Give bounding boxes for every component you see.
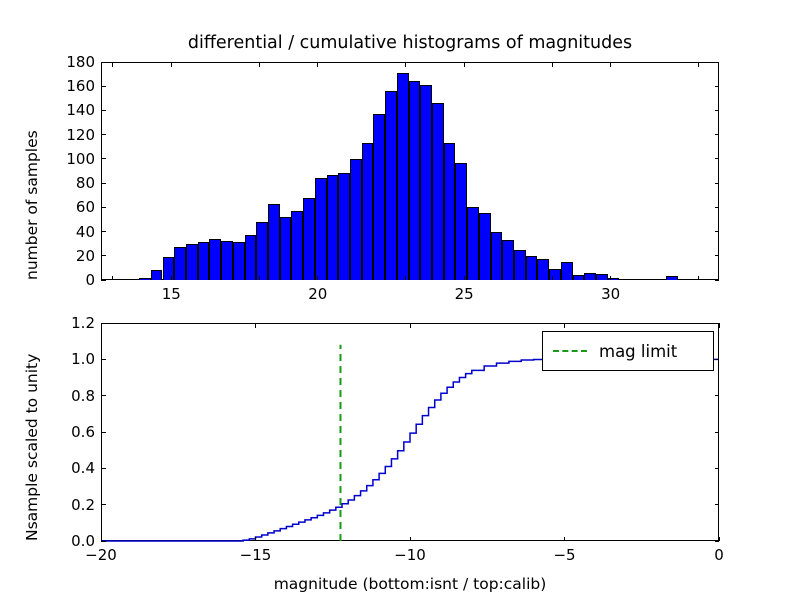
top-ytick [101,183,106,184]
top-ytick [101,207,106,208]
top-xtick-minor [405,276,406,281]
bottom-xtick [719,537,720,542]
top-ytick-label: 80 [45,175,95,191]
top-xtick-label: 15 [162,286,181,302]
top-xtick-label: 25 [455,286,474,302]
histogram-bar [385,91,397,280]
top-ytick-right [715,110,720,111]
top-ytick-right [715,255,720,256]
bottom-xtick-top [101,323,102,328]
histogram-bar [174,247,186,280]
histogram-bar [537,259,549,280]
histogram-bar [619,279,631,281]
top-ytick-label: 40 [45,224,95,240]
bottom-xtick-top [719,323,720,328]
bottom-ytick-label: 0.4 [45,460,95,476]
bottom-xtick [255,537,256,542]
bottom-ytick [101,395,106,396]
histogram-bar [455,163,467,280]
histogram-bar [514,250,526,280]
top-ytick-label: 120 [45,127,95,143]
histogram-bar [420,85,432,280]
top-xtick-top [317,62,318,67]
histogram-bar [432,103,444,280]
bottom-ytick [101,432,106,433]
histogram-bar [350,159,362,280]
top-ytick-right [715,158,720,159]
bottom-xtick-top [564,323,565,328]
top-xtick-minor [259,276,260,281]
top-ytick-right [715,231,720,232]
bottom-ytick-right [715,359,720,360]
histogram-bar [561,262,573,280]
histogram-bar [280,217,292,280]
bottom-axes-xlabel: magnitude (bottom:isnt / top:calib) [274,575,547,593]
histogram-bar [491,232,503,280]
histogram-bar [186,244,198,280]
histogram-bar [397,73,409,280]
histogram-bar [327,175,339,280]
histogram-bar [373,114,385,280]
mag-limit-line-swatch [553,350,587,352]
histogram-bar [666,276,678,280]
top-ytick-label: 100 [45,151,95,167]
top-xtick [464,276,465,281]
histogram-bar [291,211,303,280]
bottom-xtick-label: −15 [240,547,272,563]
bottom-xtick-top [255,323,256,328]
matplotlib-figure: differential / cumulative histograms of … [0,0,800,600]
top-ytick-right [715,86,720,87]
bottom-ytick-label: 0.2 [45,497,95,513]
histogram-bar [245,235,257,280]
top-xtick [171,276,172,281]
bottom-ytick-right [715,395,720,396]
bottom-xtick-top [410,323,411,328]
top-ytick-label: 160 [45,78,95,94]
bottom-ytick [101,359,106,360]
top-xtick-minor [698,276,699,281]
top-ytick [101,134,106,135]
histogram-bar [596,274,608,280]
top-ytick-right [715,134,720,135]
histogram-bar [151,270,163,280]
bottom-xtick [410,537,411,542]
histogram-bar [256,222,268,280]
top-ytick-right [715,280,720,281]
top-ytick-label: 60 [45,199,95,215]
top-xtick-top [171,62,172,67]
histogram-bar [526,256,538,280]
histogram-bar [268,204,280,280]
bottom-ytick-label: 1.2 [45,315,95,331]
bottom-ytick-label: 0.8 [45,388,95,404]
bottom-ytick-right [715,504,720,505]
top-xtick-top [610,62,611,67]
histogram-bar [584,273,596,280]
histogram-bar [198,242,210,280]
histogram-bar [233,242,245,280]
top-ytick [101,110,106,111]
legend-box: mag limit [542,331,714,371]
top-ytick-right [715,207,720,208]
top-ytick-label: 0 [45,272,95,288]
histogram-bar [467,207,479,280]
bottom-ytick-label: 1.0 [45,351,95,367]
top-xtick-minor-top [698,62,699,67]
bottom-xtick-label: −5 [553,547,575,563]
bottom-ytick [101,323,106,324]
top-ytick-right [715,62,720,63]
histogram-bar [573,275,585,280]
histogram-bar [409,81,421,280]
top-ytick-right [715,183,720,184]
bottom-xtick-label: −10 [394,547,426,563]
histogram-bar [444,143,456,280]
top-ytick [101,62,106,63]
top-xtick-label: 30 [601,286,620,302]
bottom-xtick [101,537,102,542]
histogram-bar [163,257,175,280]
histogram-bar [303,198,315,280]
top-ytick [101,280,106,281]
bottom-ytick [101,468,106,469]
top-ytick [101,231,106,232]
top-xtick-minor-top [405,62,406,67]
legend-label-mag-limit: mag limit [599,342,677,361]
top-ytick [101,86,106,87]
histogram-bar [315,178,327,280]
bottom-ytick [101,504,106,505]
top-xtick-minor [112,276,113,281]
bottom-xtick-label: −20 [85,547,117,563]
bottom-axes-ylabel: Nsample scaled to unity [23,354,41,541]
bottom-ytick-right [715,432,720,433]
bottom-ytick-label: 0.6 [45,424,95,440]
top-ytick-label: 180 [45,54,95,70]
histogram-bar [479,213,491,280]
top-xtick-minor-top [112,62,113,67]
bottom-ytick [101,541,106,542]
histogram-bar [631,279,643,281]
histogram-bar [362,143,374,280]
top-xtick [610,276,611,281]
top-ytick-label: 140 [45,102,95,118]
histogram-bar [209,239,221,280]
top-xtick-top [464,62,465,67]
top-ytick [101,255,106,256]
histogram-bar [338,173,350,280]
top-xtick-minor-top [259,62,260,67]
bottom-xtick [564,537,565,542]
bottom-ytick-right [715,468,720,469]
histogram-bar [139,278,151,280]
top-xtick [317,276,318,281]
top-axes-ylabel: number of samples [23,130,41,280]
histogram-bar [221,241,233,280]
top-ytick-label: 20 [45,248,95,264]
histogram-bar [502,240,514,280]
top-xtick-label: 20 [308,286,327,302]
top-xtick-minor [552,276,553,281]
top-ytick [101,158,106,159]
top-xtick-minor-top [552,62,553,67]
bottom-xtick-label: 0 [714,547,724,563]
